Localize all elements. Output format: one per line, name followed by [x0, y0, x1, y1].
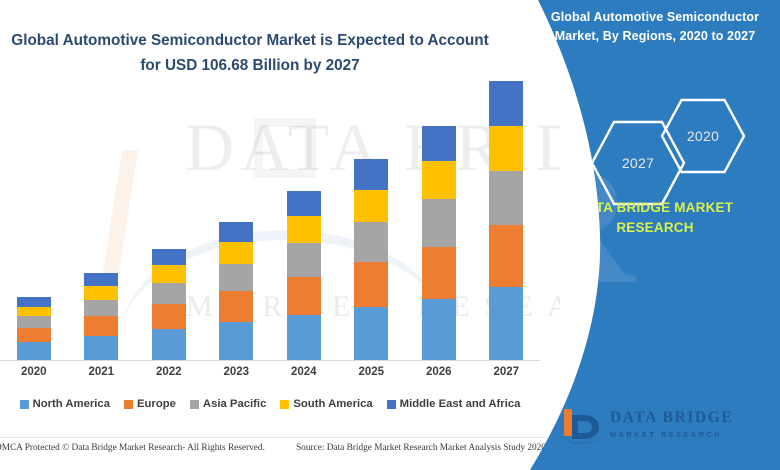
- bar-2025: [354, 159, 388, 360]
- bar-segment: [84, 336, 118, 360]
- bar-segment: [422, 299, 456, 360]
- bar-segment: [489, 171, 523, 225]
- bar-2023: [219, 222, 253, 360]
- bar-segment: [287, 216, 321, 243]
- legend-label: Middle East and Africa: [400, 398, 521, 410]
- bar-segment: [17, 316, 51, 328]
- bar-segment: [84, 300, 118, 317]
- bar-segment: [422, 126, 456, 161]
- bar-2026: [422, 126, 456, 360]
- brand-name-line1: DATA BRIDGE MARKET: [530, 198, 780, 218]
- logo-name: DATA BRIDGE: [610, 409, 733, 427]
- hexagon-2027-label: 2027: [590, 155, 686, 171]
- bar-2020: [17, 297, 51, 360]
- legend-item[interactable]: Asia Pacific: [190, 398, 266, 410]
- bar-segment: [287, 191, 321, 216]
- legend-swatch-icon: [124, 400, 133, 409]
- x-tick-2025: 2025: [341, 366, 401, 378]
- page-title-line2: for USD 106.68 Billion by 2027: [0, 53, 500, 78]
- bar-segment: [219, 242, 253, 264]
- bar-segment: [354, 307, 388, 360]
- footer-source: Source: Data Bridge Market Research Mark…: [296, 443, 546, 453]
- panel-title: Global Automotive Semiconductor Market, …: [530, 8, 780, 46]
- bar-segment: [354, 222, 388, 262]
- bar-segment: [84, 286, 118, 300]
- x-tick-2024: 2024: [274, 366, 334, 378]
- bar-segment: [84, 316, 118, 336]
- bar-segment: [152, 265, 186, 283]
- brand-name: DATA BRIDGE MARKET RESEARCH: [530, 198, 780, 238]
- bar-segment: [489, 225, 523, 286]
- legend-swatch-icon: [190, 400, 199, 409]
- x-tick-2020: 2020: [4, 366, 64, 378]
- axis-baseline: [0, 360, 540, 361]
- company-logo: DATA BRIDGE MARKET RESEARCH: [558, 402, 763, 452]
- hexagon-group: 2020 2027: [590, 98, 780, 208]
- legend-item[interactable]: Middle East and Africa: [387, 398, 521, 410]
- legend-label: Europe: [137, 398, 176, 410]
- bar-segment: [354, 190, 388, 222]
- bar-segment: [17, 297, 51, 306]
- bar-segment: [152, 304, 186, 329]
- legend-label: South America: [293, 398, 372, 410]
- x-tick-2022: 2022: [139, 366, 199, 378]
- legend-swatch-icon: [387, 400, 396, 409]
- bar-segment: [17, 342, 51, 360]
- bar-segment: [354, 262, 388, 307]
- bar-chart-plot: [0, 100, 540, 361]
- bar-segment: [422, 247, 456, 299]
- bar-segment: [287, 243, 321, 277]
- logo-mark-icon: [558, 406, 604, 446]
- bar-segment: [219, 264, 253, 291]
- x-tick-2027: 2027: [476, 366, 536, 378]
- chart-area: DATA BRIDGE MARKET RESEARCH Global Autom…: [0, 0, 560, 470]
- panel-title-line1: Global Automotive Semiconductor: [530, 8, 780, 27]
- legend-swatch-icon: [20, 400, 29, 409]
- page-title-line1: Global Automotive Semiconductor Market i…: [0, 28, 500, 53]
- bar-segment: [489, 126, 523, 171]
- bar-segment: [219, 291, 253, 322]
- chart-legend: North AmericaEuropeAsia PacificSouth Ame…: [0, 398, 540, 410]
- x-axis-labels: 20202021202220232024202520262027: [0, 366, 540, 386]
- footer-divider: [0, 437, 545, 438]
- x-tick-2023: 2023: [206, 366, 266, 378]
- logo-text: DATA BRIDGE MARKET RESEARCH: [610, 409, 733, 439]
- bar-segment: [287, 277, 321, 315]
- bar-segment: [422, 199, 456, 246]
- bar-segment: [422, 161, 456, 199]
- bar-segment: [17, 328, 51, 342]
- legend-swatch-icon: [280, 400, 289, 409]
- footer-copyright: DMCA Protected © Data Bridge Market Rese…: [0, 443, 265, 453]
- legend-item[interactable]: South America: [280, 398, 372, 410]
- legend-label: Asia Pacific: [203, 398, 266, 410]
- infographic-root: DATA BRIDGE MARKET RESEARCH Global Autom…: [0, 0, 780, 470]
- bar-segment: [489, 81, 523, 126]
- bar-segment: [152, 283, 186, 304]
- right-brand-panel: R Global Automotive Semiconductor Market…: [530, 0, 780, 470]
- legend-item[interactable]: Europe: [124, 398, 176, 410]
- x-tick-2026: 2026: [409, 366, 469, 378]
- bar-2024: [287, 191, 321, 360]
- legend-label: North America: [33, 398, 110, 410]
- bar-2022: [152, 249, 186, 360]
- legend-item[interactable]: North America: [20, 398, 110, 410]
- x-tick-2021: 2021: [71, 366, 131, 378]
- bar-segment: [219, 222, 253, 242]
- bar-segment: [152, 249, 186, 266]
- bar-segment: [354, 159, 388, 190]
- page-title: Global Automotive Semiconductor Market i…: [0, 28, 500, 78]
- logo-tagline: MARKET RESEARCH: [610, 430, 733, 439]
- brand-name-line2: RESEARCH: [530, 218, 780, 238]
- panel-title-line2: Market, By Regions, 2020 to 2027: [530, 27, 780, 46]
- bar-segment: [152, 329, 186, 360]
- bar-segment: [489, 287, 523, 360]
- footer: DMCA Protected © Data Bridge Market Rese…: [0, 443, 560, 465]
- hexagon-2027: 2027: [590, 120, 686, 206]
- bar-segment: [84, 273, 118, 286]
- bar-segment: [287, 315, 321, 360]
- bar-segment: [17, 307, 51, 316]
- bar-2021: [84, 273, 118, 360]
- bar-segment: [219, 322, 253, 360]
- bar-2027: [489, 81, 523, 360]
